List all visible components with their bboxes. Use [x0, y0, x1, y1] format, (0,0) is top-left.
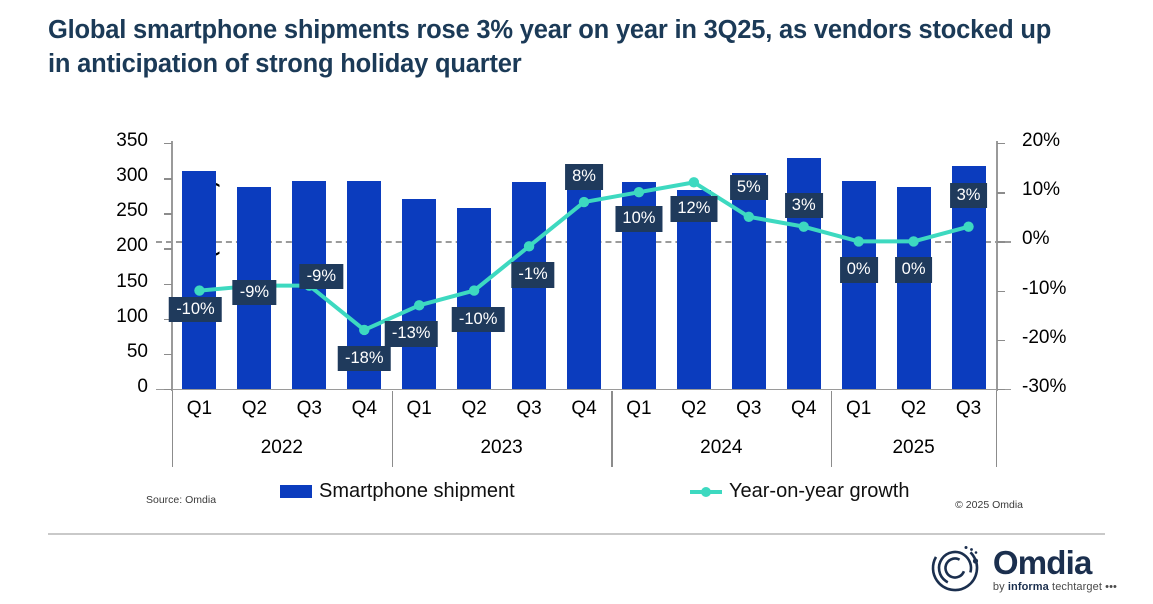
- growth-data-label: 3%: [950, 183, 988, 209]
- legend-item-smartphone-shipment[interactable]: Smartphone shipment: [280, 480, 515, 503]
- x-axis-quarter-label: Q2: [886, 392, 941, 426]
- y-axis-tick-mark-right: [997, 291, 1005, 292]
- y-axis-tick-label-right: -20%: [1022, 327, 1092, 349]
- growth-data-label: -9%: [233, 280, 276, 306]
- source-note: Source: Omdia: [146, 494, 216, 506]
- x-axis-group-separator: [392, 391, 393, 467]
- growth-data-label: -9%: [300, 264, 343, 290]
- y-axis-tick-mark-left: [164, 284, 172, 285]
- growth-data-label: -13%: [385, 321, 438, 347]
- x-axis-quarter-label: Q1: [831, 392, 886, 426]
- y-axis-tick-mark-right: [997, 241, 1005, 242]
- x-axis-quarter-label: Q4: [776, 392, 831, 426]
- page-title: Global smartphone shipments rose 3% year…: [48, 14, 1058, 82]
- x-axis-quarter-label: Q4: [337, 392, 392, 426]
- legend-line-swatch-icon: [690, 485, 722, 499]
- y-axis-tick-label-right: -10%: [1022, 278, 1092, 300]
- x-axis-group-separator: [611, 391, 612, 467]
- x-axis-quarter-label: Q1: [172, 392, 227, 426]
- x-axis-quarter-label: Q3: [941, 392, 996, 426]
- growth-data-point[interactable]: [744, 212, 754, 222]
- x-axis-year-label: 2022: [172, 428, 392, 468]
- omdia-swirl-icon: [930, 540, 984, 599]
- y-axis-tick-label-left: 100: [58, 306, 148, 328]
- x-axis-quarter-label: Q4: [557, 392, 612, 426]
- footer-divider: [48, 533, 1105, 535]
- growth-data-label: 8%: [565, 164, 603, 190]
- tagline-suffix: techtarget: [1049, 581, 1105, 593]
- legend-bar-swatch-icon: [280, 485, 312, 498]
- x-axis-quarter-label: Q2: [227, 392, 282, 426]
- tagline-bold: informa: [1008, 581, 1049, 593]
- y-axis-tick-mark-left: [164, 213, 172, 214]
- omdia-logo-text: Omdia by informa techtarget •••: [993, 546, 1117, 593]
- growth-data-label: -1%: [511, 262, 554, 288]
- x-axis-year-labels: 2022202320242025: [172, 428, 996, 468]
- x-axis-year-label: 2023: [392, 428, 612, 468]
- growth-data-point[interactable]: [634, 187, 644, 197]
- y-axis-tick-label-right: 10%: [1022, 179, 1092, 201]
- x-axis-quarter-label: Q3: [502, 392, 557, 426]
- y-axis-line-right: [996, 141, 998, 391]
- growth-data-point[interactable]: [908, 236, 918, 246]
- growth-data-point[interactable]: [689, 177, 699, 187]
- y-axis-tick-mark-left: [164, 389, 172, 390]
- y-axis-tick-label-left: 0: [58, 376, 148, 398]
- x-axis-quarter-label: Q2: [666, 392, 721, 426]
- y-axis-tick-mark-left: [164, 178, 172, 179]
- growth-data-point[interactable]: [524, 241, 534, 251]
- y-axis-tick-mark-right: [997, 340, 1005, 341]
- y-axis-tick-mark-left: [164, 354, 172, 355]
- growth-data-point[interactable]: [853, 236, 863, 246]
- legend-item-year-on-year-growth[interactable]: Year-on-year growth: [690, 480, 909, 503]
- chart-legend: Smartphone shipment Year-on-year growth: [280, 480, 930, 510]
- omdia-logo-tagline: by informa techtarget •••: [993, 582, 1117, 593]
- tagline-dots: •••: [1105, 581, 1117, 593]
- x-axis-quarter-labels: Q1Q2Q3Q4Q1Q2Q3Q4Q1Q2Q3Q4Q1Q2Q3: [172, 392, 996, 426]
- y-axis-tick-label-right: -30%: [1022, 376, 1092, 398]
- y-axis-tick-mark-right: [997, 143, 1005, 144]
- y-axis-tick-label-left: 250: [58, 200, 148, 222]
- copyright-note: © 2025 Omdia: [955, 499, 1023, 511]
- growth-data-point[interactable]: [799, 221, 809, 231]
- y-axis-tick-label-right: 20%: [1022, 130, 1092, 152]
- growth-data-label: 0%: [840, 257, 878, 283]
- legend-item-label: Smartphone shipment: [319, 480, 515, 503]
- x-axis-quarter-label: Q1: [392, 392, 447, 426]
- x-axis-quarter-label: Q3: [721, 392, 776, 426]
- omdia-logo-name: Omdia: [993, 546, 1117, 579]
- x-axis-group-separator: [996, 391, 997, 467]
- x-axis-quarter-label: Q2: [447, 392, 502, 426]
- growth-data-point[interactable]: [579, 197, 589, 207]
- tagline-prefix: by: [993, 581, 1008, 593]
- x-axis-year-label: 2024: [611, 428, 831, 468]
- x-axis-quarter-label: Q1: [611, 392, 666, 426]
- growth-data-label: -10%: [452, 307, 505, 333]
- y-axis-tick-label-left: 50: [58, 341, 148, 363]
- y-axis-tick-label-left: 300: [58, 165, 148, 187]
- x-axis-group-separator: [172, 391, 173, 467]
- y-axis-tick-label-left: 200: [58, 235, 148, 257]
- growth-data-label: 12%: [670, 196, 717, 222]
- growth-data-label: -18%: [338, 346, 391, 372]
- y-axis-tick-mark-left: [164, 143, 172, 144]
- x-axis-group-separator: [831, 391, 832, 467]
- growth-data-label: 5%: [730, 175, 768, 201]
- growth-data-point[interactable]: [963, 221, 973, 231]
- growth-data-point[interactable]: [414, 300, 424, 310]
- y-axis-tick-mark-right: [997, 192, 1005, 193]
- growth-data-label: -10%: [169, 297, 222, 323]
- growth-data-label: 10%: [615, 206, 662, 232]
- y-axis-tick-label-right: 0%: [1022, 228, 1092, 250]
- y-axis-tick-mark-left: [164, 248, 172, 249]
- x-axis-year-label: 2025: [831, 428, 996, 468]
- growth-data-label: 0%: [895, 257, 933, 283]
- y-axis-tick-label-left: 150: [58, 271, 148, 293]
- legend-item-label: Year-on-year growth: [729, 480, 909, 503]
- growth-data-point[interactable]: [359, 325, 369, 335]
- growth-data-point[interactable]: [469, 285, 479, 295]
- x-axis-quarter-label: Q3: [282, 392, 337, 426]
- omdia-logo: Omdia by informa techtarget •••: [930, 541, 1117, 597]
- growth-data-label: 3%: [785, 193, 823, 219]
- y-axis-tick-label-left: 350: [58, 130, 148, 152]
- growth-data-point[interactable]: [194, 285, 204, 295]
- y-axis-tick-mark-right: [997, 389, 1005, 390]
